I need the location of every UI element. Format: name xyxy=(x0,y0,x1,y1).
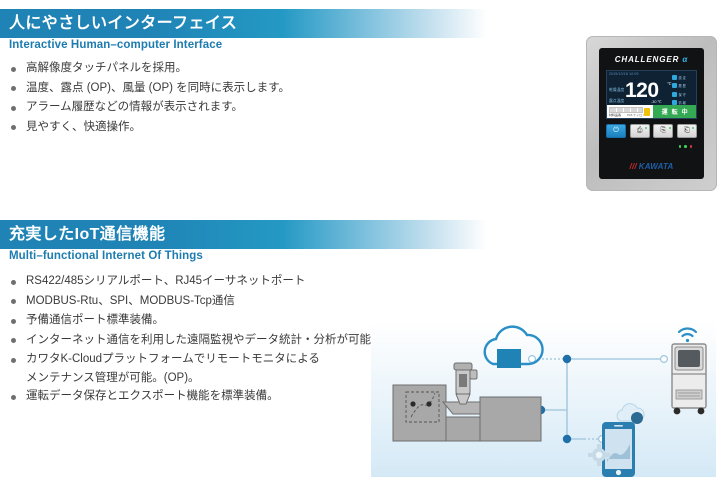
wifi-icon xyxy=(679,328,696,342)
lcd-label-dewpoint: 露点温度 xyxy=(609,99,624,104)
lcd-status-running: 運 転 中 xyxy=(653,105,696,118)
lcd-menu-maintenance-label: 保 守 xyxy=(679,92,686,97)
warning-icon xyxy=(644,108,650,116)
conveyor-node xyxy=(443,402,481,441)
lcd-big-value: 120 xyxy=(625,80,659,101)
lcd-status-caption: 材料品番 xyxy=(609,113,621,117)
list-item: 運転データ保存とエクスポート機能を標準装備。 xyxy=(9,387,383,407)
bullet-dot-icon xyxy=(11,125,16,130)
junction-dots xyxy=(529,355,668,443)
lcd-status-table xyxy=(609,107,643,113)
list-item: カワタK-Cloudプラットフォームでリモートモニタによるメンテナンス管理が可能… xyxy=(9,350,326,387)
wrench-icon xyxy=(672,92,677,97)
lcd-value-dewpoint: -30 ℃ xyxy=(651,99,662,104)
list-item: MODBUS-Rtu、SPI、MODBUS-Tcp通信 xyxy=(9,292,383,312)
list-item-text: RS422/485シリアルポート、RJ45イーサネットポート xyxy=(26,275,305,287)
bullet-dot-icon xyxy=(11,299,16,304)
dryer-machine-node xyxy=(480,397,541,441)
led-red-icon xyxy=(690,145,693,148)
lcd-timestamp: 2019/10/18 10:09 xyxy=(609,72,639,76)
lcd-status-running-char-3: 中 xyxy=(682,107,688,116)
list-item: 見やすく、快適操作。 xyxy=(9,118,290,138)
lcd-menu-history-label: 履 歴 xyxy=(679,83,686,88)
document-icon xyxy=(672,83,677,88)
list-item: インターネット通信を利用した遠隔監視やデータ統計・分析が可能。 xyxy=(9,331,383,351)
device-brand-text: CHALLENGER xyxy=(615,55,680,64)
list-item: 温度、露点 (OP)、風量 (OP) を同時に表示します。 xyxy=(9,79,290,99)
bullet-dot-icon xyxy=(11,358,16,363)
led-green-1-icon xyxy=(679,145,682,148)
section-title-iot: 充実したIoT通信機能 xyxy=(0,220,165,249)
aux-button[interactable]: ⎗ xyxy=(677,124,697,138)
controller-cabinet-node xyxy=(672,344,706,414)
list-item: アラーム履歴などの情報が表示されます。 xyxy=(9,98,290,118)
iot-diagram-svg xyxy=(371,322,716,477)
bullet-dot-icon xyxy=(11,106,16,111)
list-item: 高解像度タッチパネルを採用。 xyxy=(9,59,290,79)
device-lcd-screen[interactable]: 2019/10/18 10:09 乾燥温度 120 ℃ 露点温度 -30 ℃ 設… xyxy=(606,70,697,119)
connection-lines xyxy=(534,359,664,439)
loader-icon: ⎘ xyxy=(654,125,672,137)
list-item-text: 温度、露点 (OP)、風量 (OP) を同時に表示します。 xyxy=(26,82,290,94)
section-subtitle-interface: Interactive Human–computer Interface xyxy=(9,39,222,51)
device-brand-suffix: α xyxy=(682,55,688,64)
bullet-dot-icon xyxy=(11,280,16,285)
lcd-status-running-char-1: 運 xyxy=(662,107,668,116)
kawata-logo-bars-icon: /// xyxy=(630,162,637,171)
page-root: 人にやさしいインターフェイス Interactive Human–compute… xyxy=(0,0,727,485)
device-face: CHALLENGER α 2019/10/18 10:09 乾燥温度 120 ℃… xyxy=(599,48,704,179)
iot-network-illustration xyxy=(371,322,716,477)
bullet-dot-icon xyxy=(11,338,16,343)
section-header-interface: 人にやさしいインターフェイス xyxy=(0,9,487,38)
lcd-menu-history[interactable]: 履 歴 xyxy=(672,83,695,88)
molding-machine-node xyxy=(393,385,446,441)
list-item-text: 高解像度タッチパネルを採用。 xyxy=(26,62,187,74)
device-button-row: ⏻ ⎙ ⎘ ⎗ xyxy=(606,124,697,138)
bullet-dot-icon xyxy=(11,86,16,91)
lcd-big-unit: ℃ xyxy=(667,81,672,86)
lcd-status-bar: 材料品番 PA6 ナイロン 運 転 中 xyxy=(607,105,696,118)
bullet-list-iot: RS422/485シリアルポート、RJ45イーサネットポート MODBUS-Rt… xyxy=(9,272,383,407)
loader-button[interactable]: ⎘ xyxy=(653,124,673,138)
list-item-text: 予備通信ポート標準装備。 xyxy=(26,314,164,326)
gear-icon xyxy=(672,75,677,80)
lcd-status-material: 材料品番 PA6 ナイロン xyxy=(607,105,653,118)
device-brand: CHALLENGER α xyxy=(599,55,704,64)
section-title-interface: 人にやさしいインターフェイス xyxy=(0,9,237,38)
lcd-menu-maintenance[interactable]: 保 守 xyxy=(672,92,695,97)
hopper-unit-icon xyxy=(454,363,477,404)
device-indicator-leds xyxy=(679,145,693,148)
lcd-label-temperature: 乾燥温度 xyxy=(609,88,624,93)
controller-device-image: CHALLENGER α 2019/10/18 10:09 乾燥温度 120 ℃… xyxy=(586,36,717,191)
led-green-2-icon xyxy=(684,145,687,148)
mobile-cloud-icon xyxy=(617,404,644,424)
lcd-status-caption-2: PA6 ナイロン xyxy=(627,113,645,117)
lcd-menu-settings[interactable]: 設 定 xyxy=(672,75,695,80)
power-button[interactable]: ⏻ xyxy=(606,124,626,138)
list-item-text: カワタK-Cloudプラットフォームでリモートモニタによるメンテナンス管理が可能… xyxy=(26,353,320,384)
cloud-icon xyxy=(485,327,543,368)
list-item-text: インターネット通信を利用した遠隔監視やデータ統計・分析が可能。 xyxy=(26,334,383,346)
bullet-list-interface: 高解像度タッチパネルを採用。 温度、露点 (OP)、風量 (OP) を同時に表示… xyxy=(9,59,290,137)
bullet-dot-icon xyxy=(11,319,16,324)
section-header-iot: 充実したIoT通信機能 xyxy=(0,220,487,249)
list-item-text: アラーム履歴などの情報が表示されます。 xyxy=(26,101,243,113)
section-subtitle-iot: Multi–functional Internet Of Things xyxy=(9,250,203,262)
list-item-text: MODBUS-Rtu、SPI、MODBUS-Tcp通信 xyxy=(26,295,235,307)
bullet-dot-icon xyxy=(11,395,16,400)
kawata-logo: ///KAWATA xyxy=(599,162,704,171)
list-item: 予備通信ポート標準装備。 xyxy=(9,311,383,331)
aux-icon: ⎗ xyxy=(678,125,696,137)
kawata-logo-text: KAWATA xyxy=(639,162,674,171)
list-item-text: 運転データ保存とエクスポート機能を標準装備。 xyxy=(26,390,279,402)
lcd-side-menu[interactable]: 設 定 履 歴 保 守 情 報 xyxy=(672,75,695,109)
power-icon: ⏻ xyxy=(607,125,625,137)
dryer-icon: ⎙ xyxy=(631,125,649,137)
list-item: RS422/485シリアルポート、RJ45イーサネットポート xyxy=(9,272,383,292)
dryer-button[interactable]: ⎙ xyxy=(630,124,650,138)
bullet-dot-icon xyxy=(11,67,16,72)
lcd-menu-settings-label: 設 定 xyxy=(679,75,686,80)
smartphone-node xyxy=(602,422,635,477)
list-item-text: 見やすく、快適操作。 xyxy=(26,121,141,133)
lcd-status-running-char-2: 転 xyxy=(672,107,678,116)
